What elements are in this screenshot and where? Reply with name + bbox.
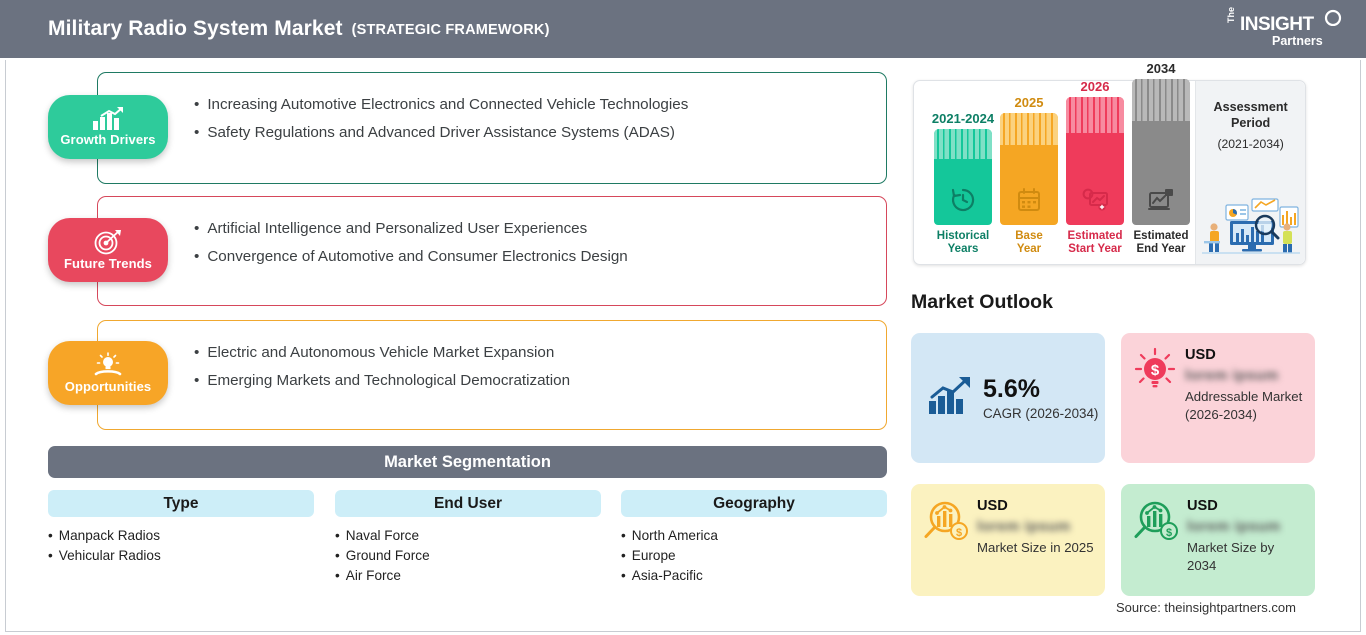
timeline-caption: Start Year (1062, 243, 1128, 256)
column-header: Geography (621, 490, 887, 517)
list-item: Artificial Intelligence and Personalized… (194, 215, 628, 243)
card-label: Market Size by 2034 (1187, 539, 1305, 574)
timeline-bar (1066, 97, 1124, 225)
insight-partners-logo: The INSIGHT Partners (1226, 6, 1348, 52)
magnifier-chart-dollar-icon: $ (1133, 498, 1179, 596)
stripe-pattern-icon (1132, 79, 1190, 121)
stripe-pattern-icon (1066, 97, 1124, 133)
assessment-period-panel: 2021-2024 (913, 80, 1306, 265)
list-item: Ground Force (335, 546, 601, 566)
timeline-item-estimated-start: 2026 (1062, 79, 1128, 256)
badge-label: Future Trends (64, 256, 152, 271)
timeline-bar (934, 129, 992, 225)
card-label: Market Size in 2025 (977, 539, 1094, 557)
timeline-item-estimated-end: 2034 (1128, 61, 1194, 256)
svg-text:The: The (1226, 7, 1236, 23)
column-header: End User (335, 490, 601, 517)
svg-text:Partners: Partners (1272, 34, 1323, 48)
column-header: Type (48, 490, 314, 517)
source-attribution: Source: theinsightpartners.com (1116, 600, 1296, 615)
blurred-value: lorem ipsum (977, 518, 1094, 535)
timeline-caption: Historical (930, 230, 996, 243)
timeline-caption: Estimated (1062, 230, 1128, 243)
opportunities-badge[interactable]: Opportunities (48, 341, 168, 405)
timeline-year: 2021-2024 (930, 111, 996, 126)
svg-text:$: $ (1151, 362, 1160, 379)
currency-label: USD (1187, 498, 1305, 514)
timeline-caption: End Year (1128, 243, 1194, 256)
lightbulb-hand-icon (92, 352, 124, 378)
opportunities-bullets: Electric and Autonomous Vehicle Market E… (194, 339, 570, 395)
timeline-item-base-year: 2025 (996, 95, 1062, 256)
timeline-caption: Years (930, 243, 996, 256)
calendar-icon (1016, 187, 1042, 218)
list-item: Europe (621, 546, 887, 566)
infographic-page: Military Radio System Market (STRATEGIC … (0, 0, 1366, 635)
timeline-year: 2025 (996, 95, 1062, 110)
list-item: Emerging Markets and Technological Democ… (194, 367, 570, 395)
page-title: Military Radio System Market (48, 17, 343, 41)
clock-history-icon (950, 187, 976, 218)
growth-drivers-badge[interactable]: Growth Drivers (48, 95, 168, 159)
svg-text:INSIGHT: INSIGHT (1240, 14, 1314, 35)
bar-chart-arrow-icon (91, 107, 125, 131)
list-item: North America (621, 526, 887, 546)
list-item: Convergence of Automotive and Consumer E… (194, 243, 628, 271)
stripe-pattern-icon (1000, 113, 1058, 145)
timeline-caption: Estimated (1128, 230, 1194, 243)
list-item: Manpack Radios (48, 526, 314, 546)
list-item: Increasing Automotive Electronics and Co… (194, 91, 688, 119)
currency-label: USD (977, 498, 1094, 514)
list-item: Air Force (335, 566, 601, 586)
timeline-caption: Year (996, 243, 1062, 256)
svg-text:$: $ (956, 527, 962, 539)
timeline-caption: Base (996, 230, 1062, 243)
magnifier-chart-dollar-icon: $ (923, 498, 969, 596)
target-dart-icon (93, 229, 123, 255)
presentation-chart-icon (1147, 187, 1175, 218)
cagr-value: 5.6% (983, 375, 1098, 403)
timeline-item-historical: 2021-2024 (930, 111, 996, 256)
list-item: Asia-Pacific (621, 566, 887, 586)
blurred-value: lorem ipsum (1185, 367, 1305, 384)
page-header: Military Radio System Market (STRATEGIC … (0, 0, 1366, 58)
timeline-bar (1000, 113, 1058, 225)
lightbulb-dollar-icon: $ (1133, 347, 1177, 463)
list-item: Electric and Autonomous Vehicle Market E… (194, 339, 570, 367)
cagr-card: 5.6% CAGR (2026-2034) (911, 333, 1105, 463)
stripe-pattern-icon (934, 129, 992, 159)
assessment-range: (2021-2034) (1196, 137, 1305, 151)
assessment-period-box: Assessment Period (2021-2034) (1195, 81, 1305, 264)
currency-label: USD (1185, 347, 1305, 363)
svg-text:$: $ (1166, 527, 1172, 539)
growth-chart-icon (927, 375, 973, 422)
card-label: Addressable Market (2026-2034) (1185, 388, 1305, 423)
growth-drivers-bullets: Increasing Automotive Electronics and Co… (194, 91, 688, 147)
future-trends-box: Artificial Intelligence and Personalized… (97, 196, 887, 306)
blurred-value: lorem ipsum (1187, 518, 1305, 535)
page-subtitle: (STRATEGIC FRAMEWORK) (352, 22, 550, 38)
timeline-bars: 2021-2024 (914, 81, 1195, 264)
market-segmentation-header: Market Segmentation (48, 446, 887, 478)
segmentation-column-geography: Geography North America Europe Asia-Paci… (621, 490, 887, 586)
timeline-year: 2034 (1128, 61, 1194, 76)
assessment-title: Assessment (1196, 99, 1305, 115)
segmentation-column-end-user: End User Naval Force Ground Force Air Fo… (335, 490, 601, 586)
chart-settings-icon (1081, 187, 1109, 218)
badge-label: Growth Drivers (60, 132, 155, 147)
cagr-label: CAGR (2026-2034) (983, 406, 1098, 421)
list-item: Naval Force (335, 526, 601, 546)
addressable-market-card: $ USD lorem ipsum Addressable Market (20… (1121, 333, 1315, 463)
analytics-illustration (1202, 193, 1300, 260)
opportunities-box: Electric and Autonomous Vehicle Market E… (97, 320, 887, 430)
market-size-2025-card: $ USD lorem ipsum Market Size in 2025 (911, 484, 1105, 596)
market-outlook-title: Market Outlook (911, 291, 1053, 314)
market-size-2034-card: $ USD lorem ipsum Market Size by 2034 (1121, 484, 1315, 596)
timeline-year: 2026 (1062, 79, 1128, 94)
list-item: Vehicular Radios (48, 546, 314, 566)
timeline-bar (1132, 79, 1190, 225)
assessment-title: Period (1196, 115, 1305, 131)
growth-drivers-box: Increasing Automotive Electronics and Co… (97, 72, 887, 184)
list-item: Safety Regulations and Advanced Driver A… (194, 119, 688, 147)
future-trends-bullets: Artificial Intelligence and Personalized… (194, 215, 628, 271)
segmentation-column-type: Type Manpack Radios Vehicular Radios (48, 490, 314, 566)
badge-label: Opportunities (65, 379, 152, 394)
future-trends-badge[interactable]: Future Trends (48, 218, 168, 282)
